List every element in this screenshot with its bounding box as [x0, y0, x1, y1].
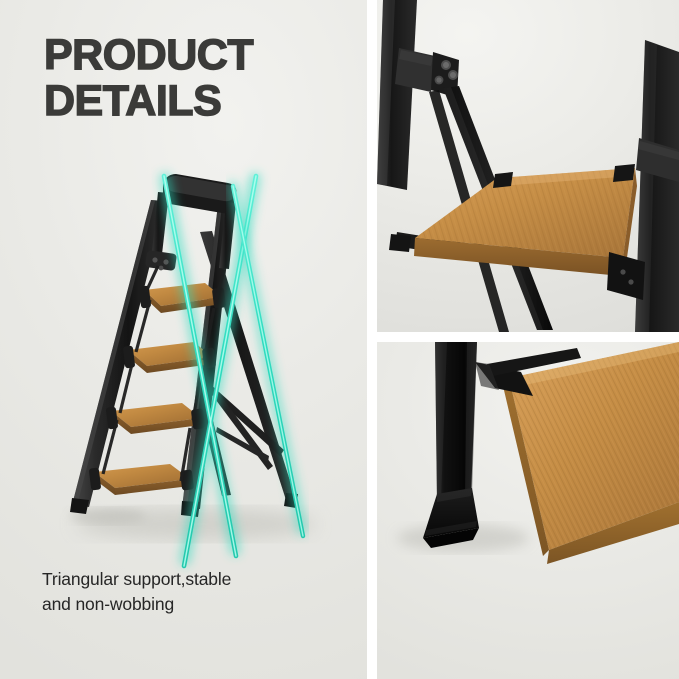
- panel-full-ladder: PRODUCT DETAILS: [0, 0, 367, 679]
- pedal-closeup-illustration: [377, 0, 679, 332]
- caption-line-1: Triangular support,stable: [42, 567, 342, 592]
- panel-foot-pad-closeup: Anti-slip foot pad , fit for multiple gr…: [377, 342, 679, 679]
- panel-pedal-closeup: Widen pedal design,more comfortable and …: [377, 0, 679, 332]
- caption-triangular-support: Triangular support,stable and non-wobbin…: [42, 567, 342, 617]
- wooden-pedal: [414, 168, 637, 276]
- caption-line-2: and non-wobbing: [42, 592, 342, 617]
- ladder-leg: [435, 342, 477, 502]
- product-detail-collage: PRODUCT DETAILS: [0, 0, 679, 679]
- foot-pad-illustration: [377, 342, 679, 679]
- wooden-step-slab: [503, 342, 679, 564]
- anti-slip-foot-pad: [423, 488, 479, 548]
